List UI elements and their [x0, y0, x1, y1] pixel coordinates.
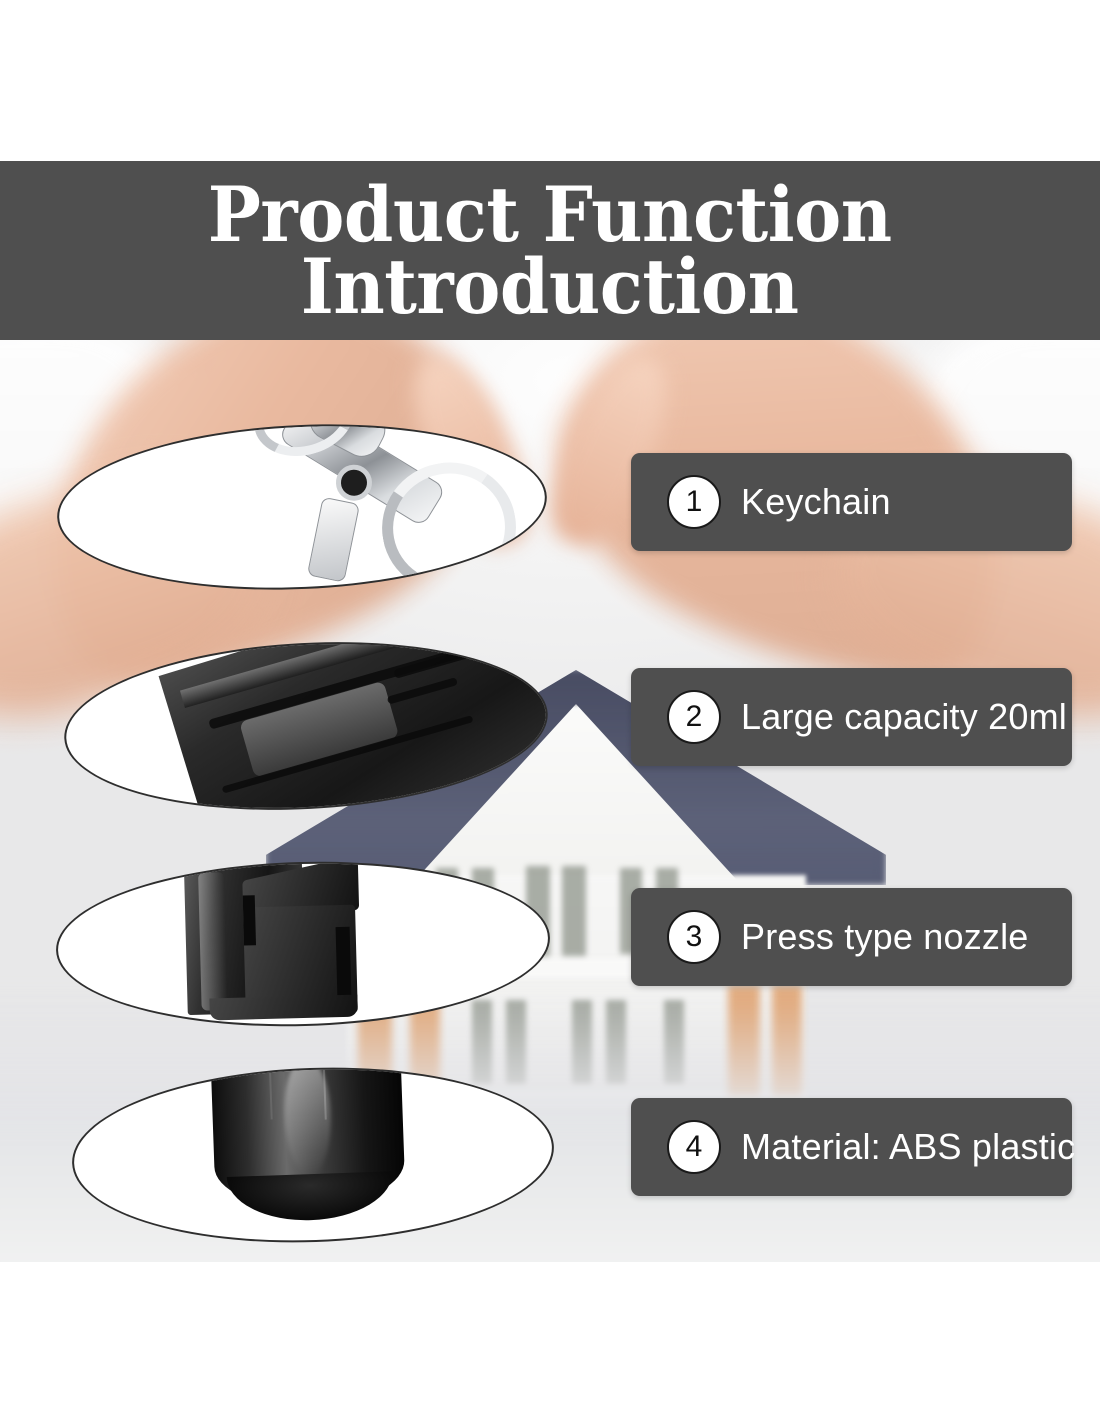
callout-row-2[interactable]: 2 Large capacity 20ml: [631, 668, 1072, 766]
page-title-line-2: Introduction: [301, 252, 799, 322]
header-band: Product Function Introduction: [0, 161, 1100, 340]
callout-label-3: Press type nozzle: [741, 916, 1029, 958]
callout-image-4: [69, 1060, 557, 1251]
callout-row-4[interactable]: 4 Material: ABS plastic: [631, 1098, 1072, 1196]
callout-number-3: 3: [667, 910, 721, 964]
callout-number-4: 4: [667, 1120, 721, 1174]
product-infographic: Product Function Introduction: [0, 0, 1100, 1422]
nozzle-lower-notch: [336, 927, 352, 1005]
abs-plastic-base-closeup: [71, 1062, 555, 1249]
callout-image-2: [60, 630, 552, 821]
nozzle-highlight: [198, 872, 228, 1011]
nozzle-collar: [209, 995, 358, 1021]
page-title-line-1: Product Function: [208, 180, 892, 250]
callout-number-1: 1: [667, 475, 721, 529]
callout-image-1: [54, 414, 551, 599]
callout-row-1[interactable]: 1 Keychain: [631, 453, 1072, 551]
press-nozzle-closeup: [56, 858, 550, 1031]
background-photo: 1 Keychain 2 Large capacity 20ml 3 Press…: [0, 340, 1100, 1262]
callout-label-2: Large capacity 20ml: [741, 696, 1067, 738]
bottle-body-closeup: [62, 633, 550, 820]
keychain-clasp-closeup: [56, 416, 549, 597]
callout-number-2: 2: [667, 690, 721, 744]
callout-label-4: Material: ABS plastic: [741, 1126, 1075, 1168]
callout-image-3: [54, 856, 552, 1033]
clasp-thumb-lever: [307, 497, 360, 583]
base-bottom-rim: [227, 1171, 395, 1223]
callout-row-3[interactable]: 3 Press type nozzle: [631, 888, 1072, 986]
clasp-rivet: [335, 464, 373, 502]
house-window: [562, 866, 586, 956]
nozzle-notch: [243, 895, 256, 945]
callout-label-1: Keychain: [741, 481, 891, 523]
